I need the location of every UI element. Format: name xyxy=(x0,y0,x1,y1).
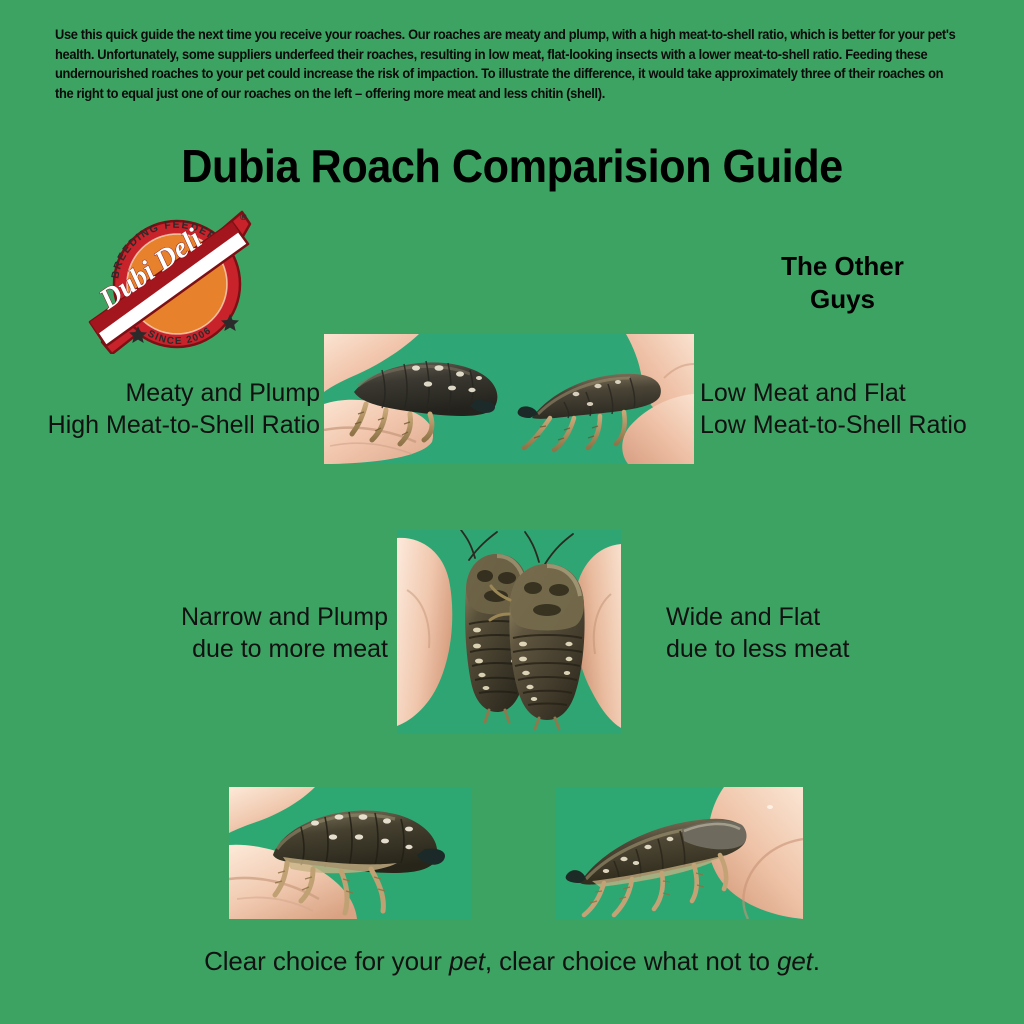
caption-emphasis-get: get xyxy=(777,946,813,976)
roach-topdown-comparison-photo xyxy=(397,530,621,734)
roach-profile-photo-graphic xyxy=(324,334,694,464)
competitor-heading: The Other Guys xyxy=(690,250,995,316)
brand-logo: BREEDING FEEDERS SINCE 2006 Dubi Deli ® xyxy=(82,206,272,354)
infographic-page: Use this quick guide the next time you r… xyxy=(0,0,1024,1024)
competitor-heading-line1: The Other xyxy=(690,250,995,283)
plump-roach-photo-graphic xyxy=(229,787,471,919)
row1-right-label-line1: Low Meat and Flat xyxy=(700,377,1020,409)
row1-left-label-line2: High Meat-to-Shell Ratio xyxy=(8,409,320,441)
closing-caption: Clear choice for your pet, clear choice … xyxy=(0,946,1024,977)
registered-trademark-icon: ® xyxy=(240,212,247,222)
row2-left-label-line2: due to more meat xyxy=(128,633,388,665)
caption-emphasis-pet: pet xyxy=(449,946,485,976)
roach-profile-comparison-photo xyxy=(324,334,694,464)
caption-part2: , clear choice what not to xyxy=(485,946,777,976)
page-title: Dubia Roach Comparision Guide xyxy=(31,139,994,193)
row2-right-label: Wide and Flat due to less meat xyxy=(666,601,926,665)
row1-right-label: Low Meat and Flat Low Meat-to-Shell Rati… xyxy=(700,377,1020,441)
row2-right-label-line1: Wide and Flat xyxy=(666,601,926,633)
row1-left-label-line1: Meaty and Plump xyxy=(8,377,320,409)
row1-left-label: Meaty and Plump High Meat-to-Shell Ratio xyxy=(8,377,320,441)
intro-paragraph: Use this quick guide the next time you r… xyxy=(55,25,957,103)
roach-topdown-photo-graphic xyxy=(397,530,621,734)
row2-left-label: Narrow and Plump due to more meat xyxy=(128,601,388,665)
competitor-heading-line2: Guys xyxy=(690,283,995,316)
flat-roach-photo xyxy=(556,787,803,919)
logo-badge-icon: BREEDING FEEDERS SINCE 2006 Dubi Deli ® xyxy=(82,206,272,354)
plump-roach-photo xyxy=(229,787,471,919)
caption-part3: . xyxy=(813,946,820,976)
row2-right-label-line2: due to less meat xyxy=(666,633,926,665)
row2-left-label-line1: Narrow and Plump xyxy=(128,601,388,633)
flat-roach-photo-graphic xyxy=(556,787,803,919)
caption-part1: Clear choice for your xyxy=(204,946,449,976)
row1-right-label-line2: Low Meat-to-Shell Ratio xyxy=(700,409,1020,441)
